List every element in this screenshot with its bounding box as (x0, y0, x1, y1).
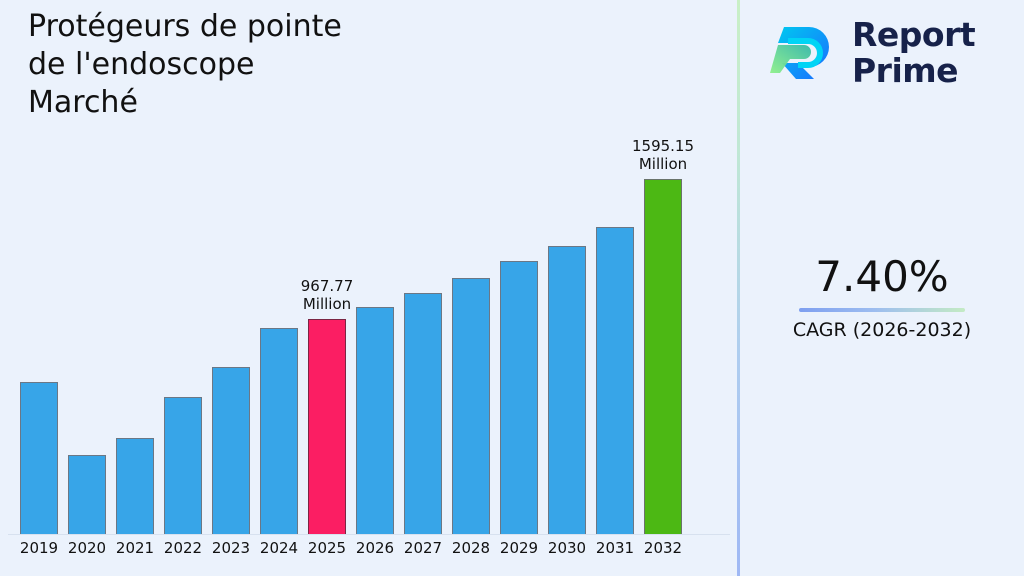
bar-2030 (548, 246, 586, 534)
bar-2029 (500, 261, 538, 534)
bar-2031 (596, 227, 634, 534)
cagr-divider-rule (799, 308, 965, 312)
cagr-caption: CAGR (2026-2032) (740, 318, 1024, 342)
x-axis-tick-2020: 2020 (63, 538, 111, 558)
brand-logo: Report Prime (768, 12, 1018, 94)
bar-2020 (68, 455, 106, 534)
bar-2026 (356, 307, 394, 534)
x-axis-tick-2028: 2028 (447, 538, 495, 558)
x-axis-tick-2031: 2031 (591, 538, 639, 558)
x-axis-tick-2019: 2019 (15, 538, 63, 558)
bar-2027 (404, 293, 442, 534)
bar-2028 (452, 278, 490, 534)
bar-2023 (212, 367, 250, 534)
bar-2022 (164, 397, 202, 534)
x-axis-tick-2030: 2030 (543, 538, 591, 558)
bar-2032 (644, 179, 682, 534)
bar-2025 (308, 319, 346, 534)
bar-2024 (260, 328, 298, 534)
bar-2019 (20, 382, 58, 534)
x-axis-tick-2032: 2032 (639, 538, 687, 558)
x-axis-tick-2029: 2029 (495, 538, 543, 558)
bar-value-label-2032: 1595.15 Million (598, 137, 728, 173)
cagr-block: 7.40% CAGR (2026-2032) (740, 252, 1024, 342)
report-prime-logo-icon (768, 17, 840, 89)
x-axis-tick-2021: 2021 (111, 538, 159, 558)
cagr-value: 7.40% (740, 252, 1024, 302)
chart-panel: Protégeurs de pointe de l'endoscope Marc… (0, 0, 738, 576)
brand-name: Report Prime (852, 17, 975, 89)
bar-chart-plot: 201920202021202220232024967.77 Million20… (0, 0, 738, 576)
info-panel: Report Prime 7.40% CAGR (2026-2032) (740, 0, 1024, 576)
x-axis-tick-2025: 2025 (303, 538, 351, 558)
x-axis-tick-2026: 2026 (351, 538, 399, 558)
x-axis-baseline (8, 534, 730, 535)
screenshot-root: Protégeurs de pointe de l'endoscope Marc… (0, 0, 1024, 576)
x-axis-tick-2022: 2022 (159, 538, 207, 558)
x-axis-tick-2023: 2023 (207, 538, 255, 558)
x-axis-tick-2024: 2024 (255, 538, 303, 558)
bar-2021 (116, 438, 154, 534)
x-axis-tick-2027: 2027 (399, 538, 447, 558)
